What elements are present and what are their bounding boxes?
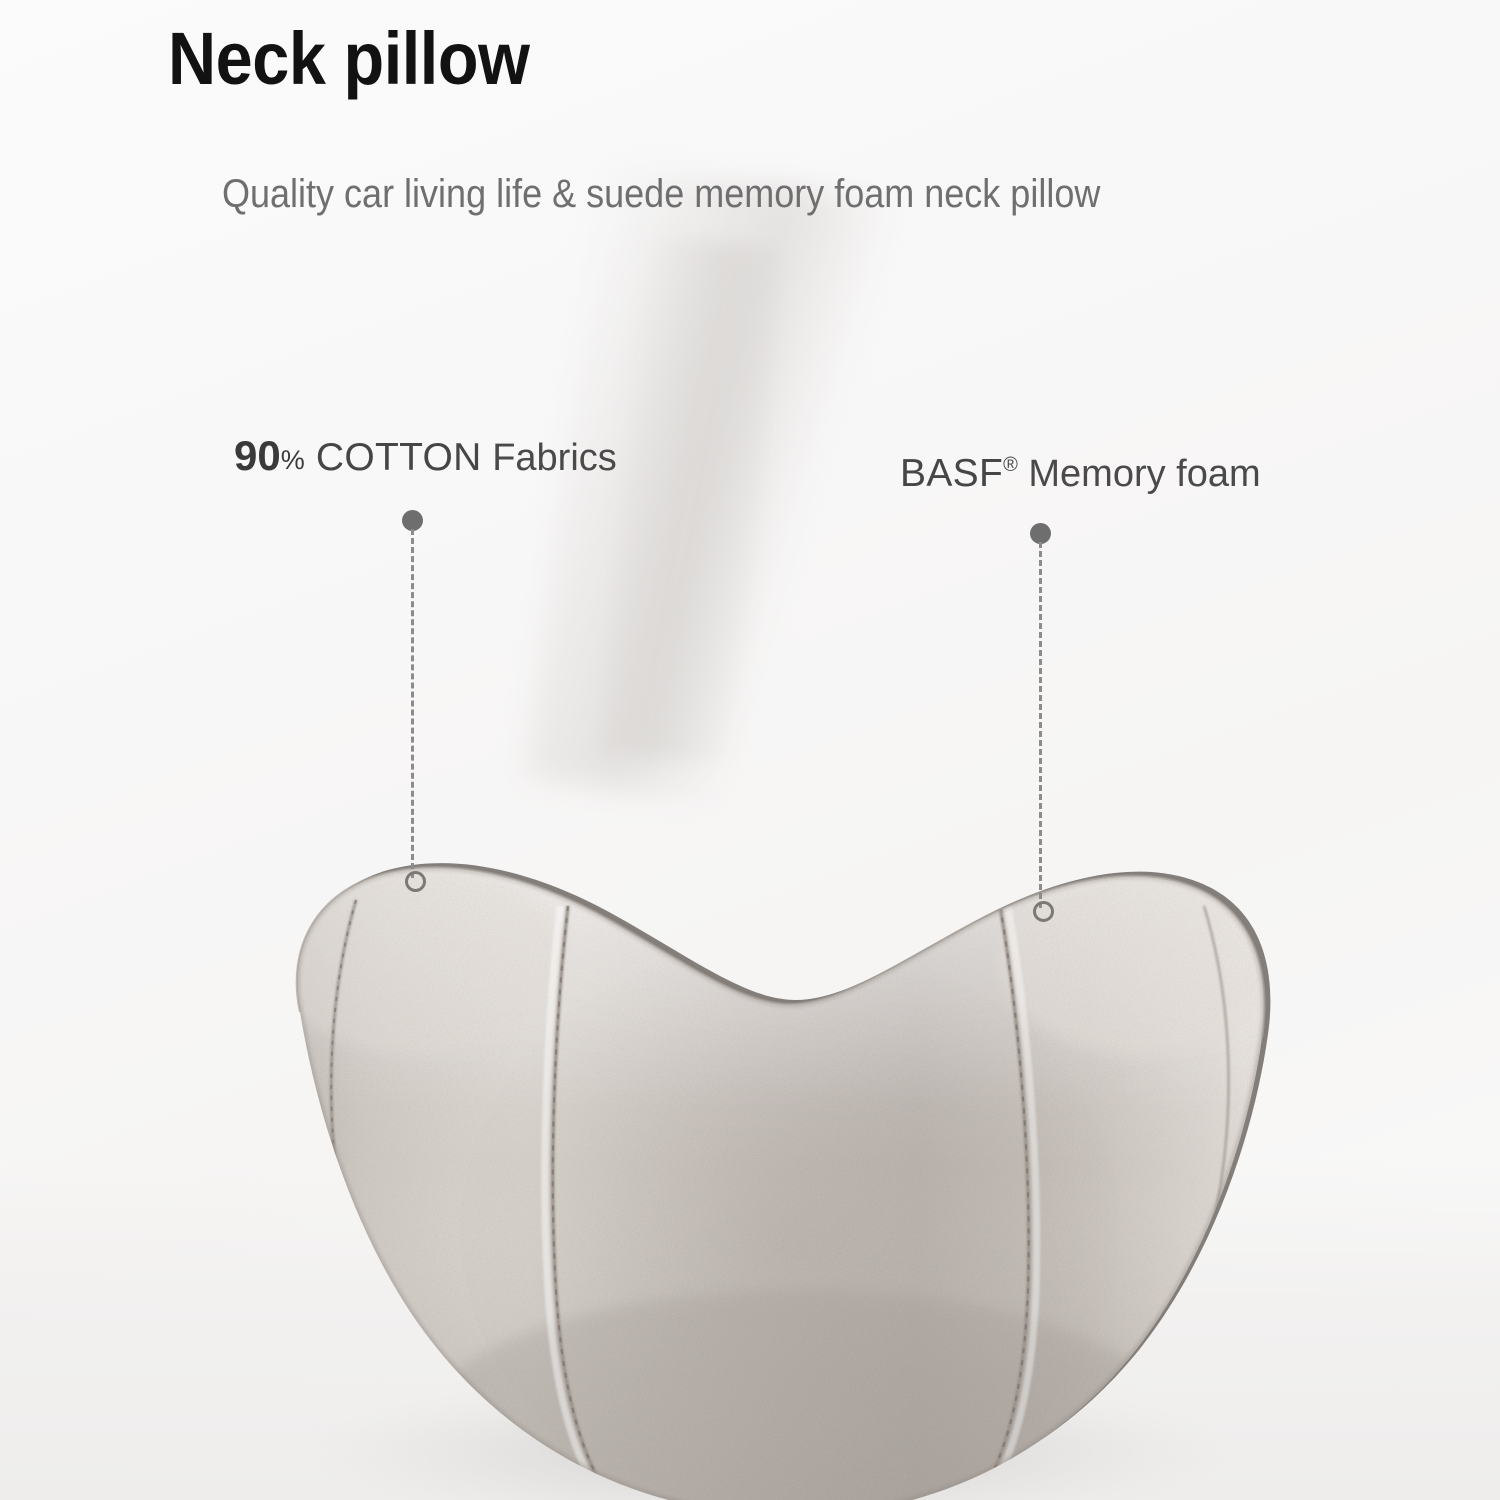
leader-dot-basf (1030, 523, 1051, 544)
background-gradient (0, 0, 1500, 1500)
leader-dot-cotton (402, 510, 423, 531)
leader-ring-cotton (405, 871, 426, 892)
callout-cotton-rest: Fabrics (492, 437, 617, 479)
leader-ring-basf (1033, 901, 1054, 922)
callout-cotton-percent: % (281, 445, 305, 475)
callout-label-basf: BASF® Memory foam (900, 452, 1261, 496)
leader-dashes-cotton (411, 529, 417, 878)
product-infographic: Neck pillow Quality car living life & su… (0, 0, 1500, 1500)
callout-label-cotton: 90% COTTON Fabrics (234, 432, 617, 480)
callout-cotton-material: COTTON (316, 436, 482, 479)
callout-cotton-spacer (482, 437, 493, 479)
leader-dashes-basf (1039, 542, 1045, 908)
callout-cotton-number: 90 (234, 432, 281, 479)
page-subtitle: Quality car living life & suede memory f… (222, 174, 1100, 214)
registered-trademark-icon: ® (1003, 454, 1018, 476)
callout-basf-brand: BASF (900, 452, 1003, 495)
callout-basf-rest: Memory foam (1028, 453, 1260, 495)
callout-cotton-caps (305, 436, 316, 479)
callout-basf-spacer (1018, 453, 1029, 495)
page-title: Neck pillow (168, 22, 529, 96)
